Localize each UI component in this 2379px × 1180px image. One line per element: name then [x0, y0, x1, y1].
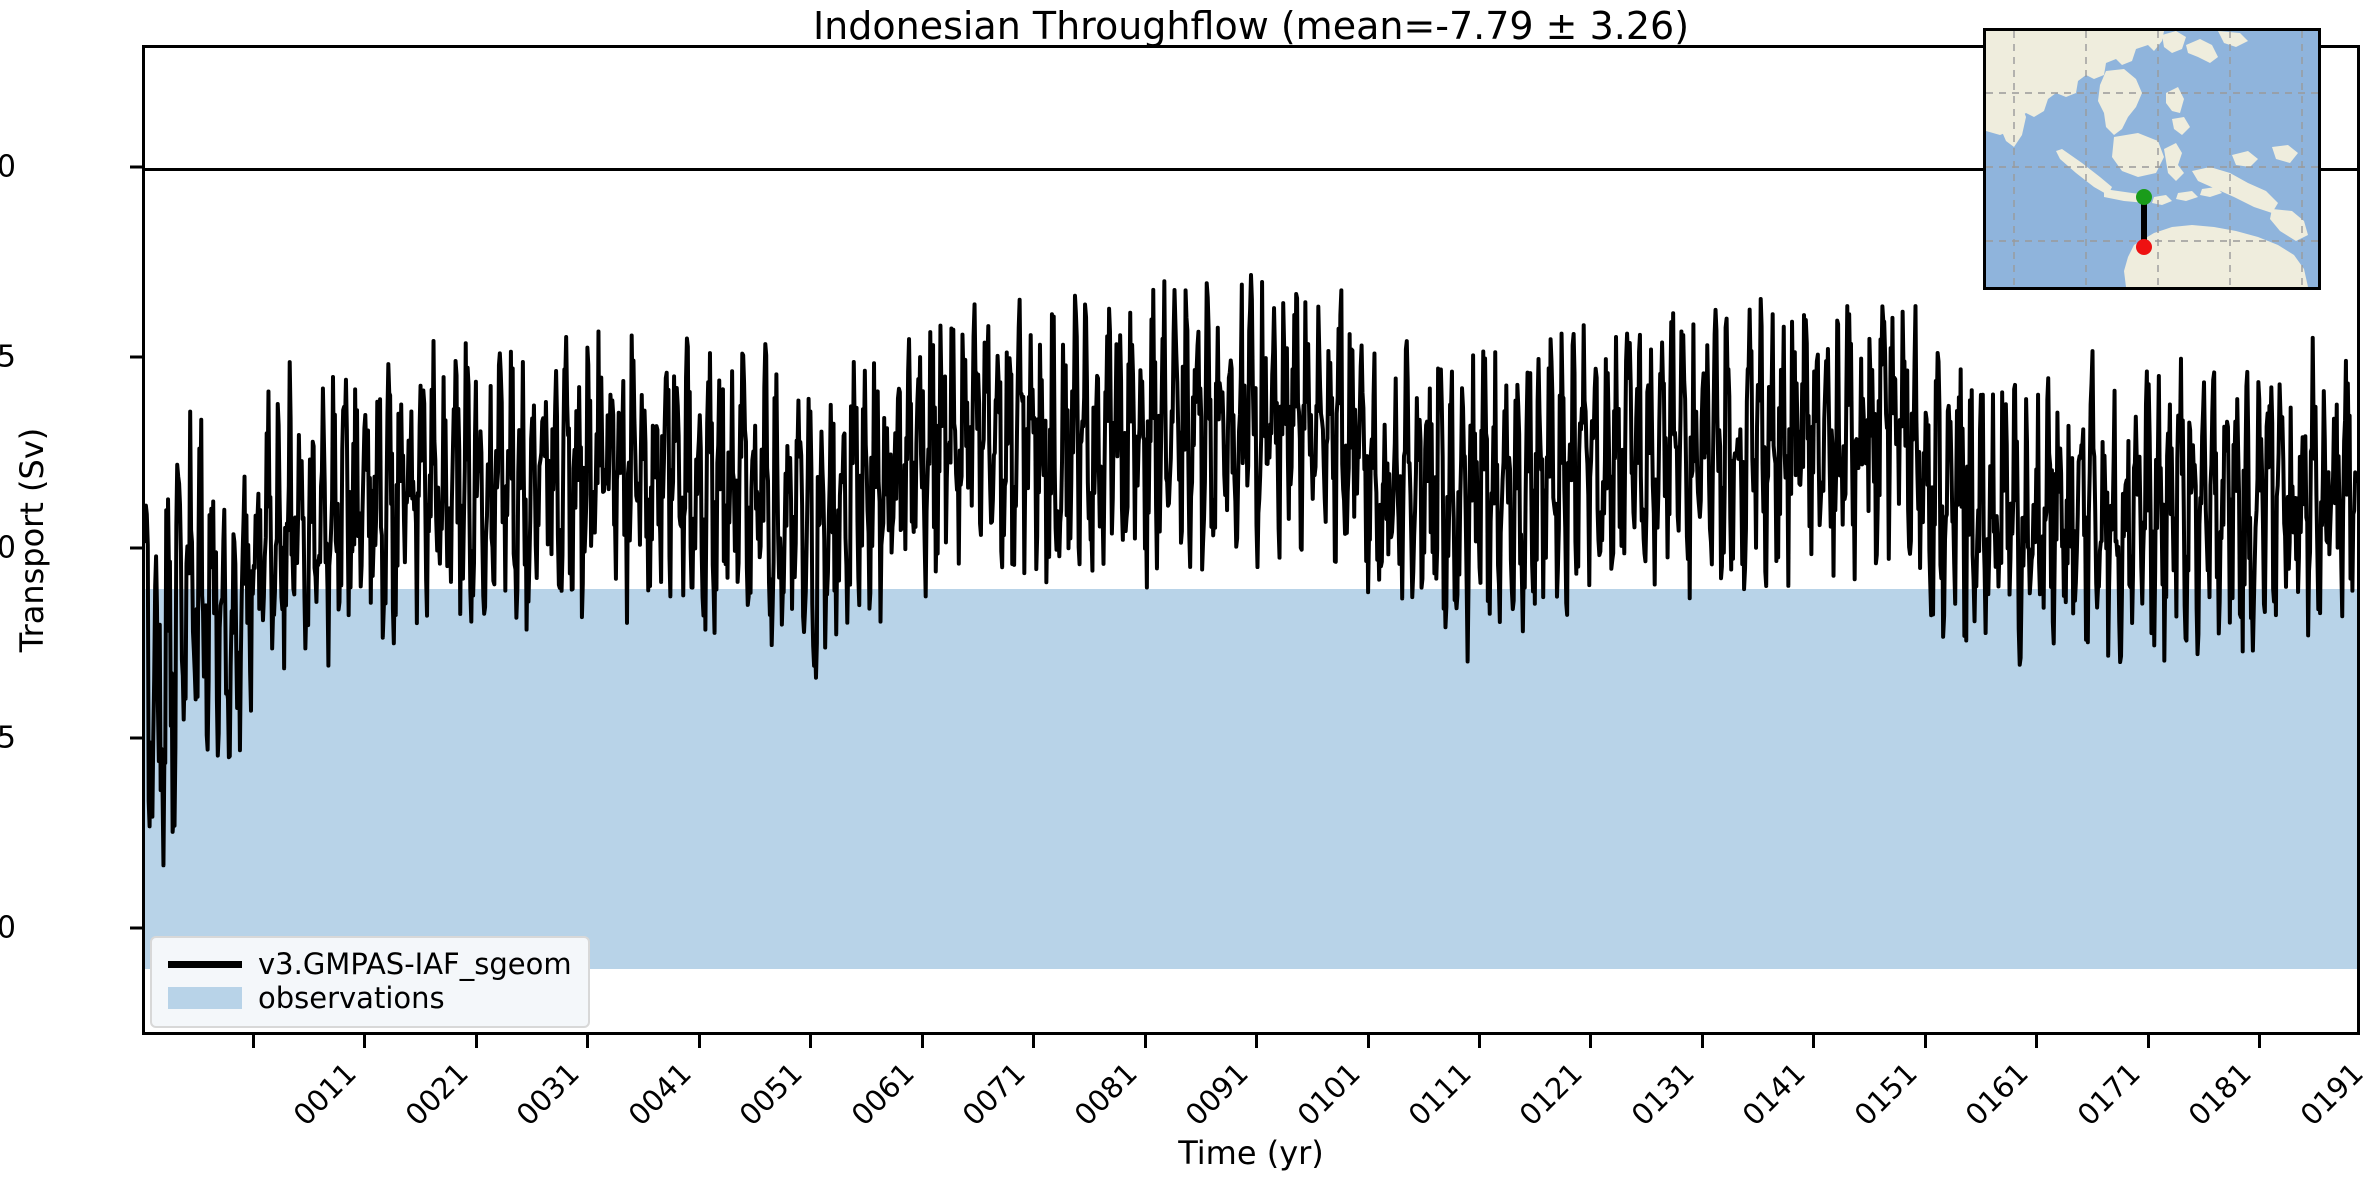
- series-line-v3-gmpas-iaf-sgeom: [145, 275, 2356, 865]
- x-tick-mark: [1812, 1035, 1815, 1048]
- x-tick-mark: [698, 1035, 701, 1048]
- x-tick-label: 0061: [844, 1056, 920, 1132]
- x-tick-mark: [2147, 1035, 2150, 1048]
- y-tick-label: 0: [0, 149, 16, 184]
- x-tick-mark: [2035, 1035, 2038, 1048]
- inset-map-svg: [1986, 31, 2318, 287]
- legend-label-observations: observations: [258, 981, 445, 1015]
- x-tick-mark: [1367, 1035, 1370, 1048]
- x-tick-mark: [1589, 1035, 1592, 1048]
- x-tick-label: 0111: [1402, 1056, 1478, 1132]
- x-tick-label: 0171: [2070, 1056, 2146, 1132]
- y-tick-label: −10: [0, 530, 16, 565]
- y-tick-label: −20: [0, 911, 16, 946]
- x-tick-label: 0151: [1847, 1056, 1923, 1132]
- y-axis-label: Transport (Sv): [13, 428, 51, 653]
- x-tick-label: 0181: [2182, 1056, 2258, 1132]
- x-tick-mark: [1255, 1035, 1258, 1048]
- x-tick-mark: [2258, 1035, 2261, 1048]
- x-tick-label: 0051: [733, 1056, 809, 1132]
- x-tick-label: 0031: [510, 1056, 586, 1132]
- x-tick-label: 0011: [287, 1056, 363, 1132]
- x-tick-label: 0131: [1625, 1056, 1701, 1132]
- legend-label-series: v3.GMPAS-IAF_sgeom: [258, 947, 572, 981]
- chart-legend: v3.GMPAS-IAF_sgeom observations: [150, 936, 590, 1028]
- figure-canvas: Indonesian Throughflow (mean=-7.79 ± 3.2…: [0, 0, 2379, 1180]
- x-tick-mark: [921, 1035, 924, 1048]
- legend-patch-swatch-icon: [168, 987, 242, 1009]
- y-tick-label: −15: [0, 721, 16, 756]
- x-tick-mark: [475, 1035, 478, 1048]
- x-tick-mark: [586, 1035, 589, 1048]
- x-tick-label: 0041: [621, 1056, 697, 1132]
- x-tick-label: 0141: [1736, 1056, 1812, 1132]
- transect-start-marker: [2136, 189, 2152, 205]
- x-tick-label: 0121: [1513, 1056, 1589, 1132]
- x-tick-label: 0191: [2293, 1056, 2369, 1132]
- x-tick-label: 0161: [1959, 1056, 2035, 1132]
- x-tick-label: 0071: [956, 1056, 1032, 1132]
- legend-line-swatch-icon: [168, 961, 242, 968]
- x-tick-label: 0081: [1067, 1056, 1143, 1132]
- y-tick-label: −5: [0, 340, 16, 375]
- x-tick-mark: [1478, 1035, 1481, 1048]
- x-tick-label: 0021: [399, 1056, 475, 1132]
- legend-item-series: v3.GMPAS-IAF_sgeom: [168, 947, 572, 981]
- x-tick-mark: [809, 1035, 812, 1048]
- x-tick-mark: [252, 1035, 255, 1048]
- x-tick-label: 0101: [1290, 1056, 1366, 1132]
- transect-location-map: [1983, 28, 2321, 290]
- transect-end-marker: [2136, 239, 2152, 255]
- x-tick-mark: [1032, 1035, 1035, 1048]
- x-tick-mark: [363, 1035, 366, 1048]
- x-tick-label: 0091: [1179, 1056, 1255, 1132]
- x-tick-mark: [1701, 1035, 1704, 1048]
- x-tick-mark: [1144, 1035, 1147, 1048]
- x-tick-mark: [1924, 1035, 1927, 1048]
- x-axis-label: Time (yr): [142, 1134, 2360, 1172]
- legend-item-observations: observations: [168, 981, 572, 1015]
